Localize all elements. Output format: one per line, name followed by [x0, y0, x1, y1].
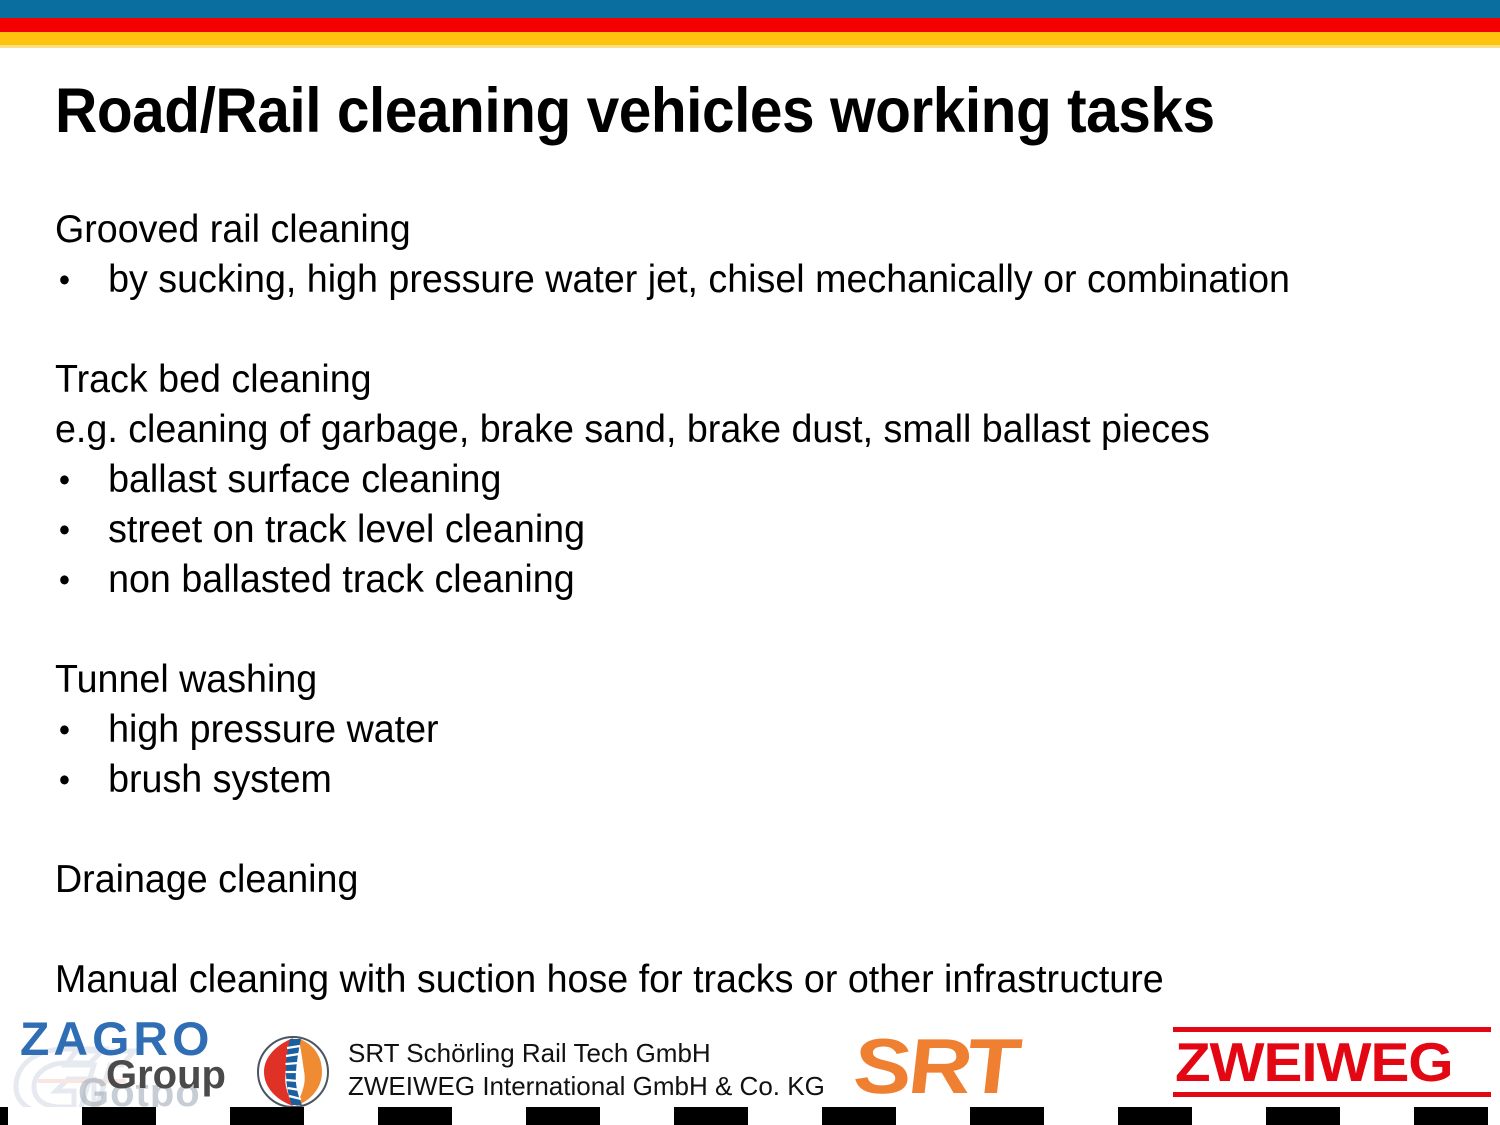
bullet-dot-icon: • [59, 705, 70, 755]
page-title: Road/Rail cleaning vehicles working task… [55, 78, 1348, 144]
zweiweg-rule-bottom [1173, 1092, 1491, 1097]
checker-cell [600, 1107, 674, 1125]
spacer-line [55, 305, 1416, 355]
bullet-text: street on track level cleaning [108, 505, 585, 555]
checker-cell [896, 1107, 970, 1125]
bullet-list-item: •non ballasted track cleaning [55, 555, 1416, 605]
top-bar-stripe-yellow [0, 32, 1500, 45]
body-heading-line: Tunnel washing [55, 655, 1416, 705]
slide-footer: Gotpo ZAGRO Group SRT Schörli [0, 1007, 1500, 1125]
bullet-text: brush system [108, 755, 332, 805]
body-heading-text: e.g. cleaning of garbage, brake sand, br… [55, 405, 1210, 455]
top-bar-stripe-blue [0, 0, 1500, 18]
bullet-text: by sucking, high pressure water jet, chi… [108, 255, 1290, 305]
checker-cell [156, 1107, 230, 1125]
bullet-dot-icon: • [59, 505, 70, 555]
bullet-list-item: •street on track level cleaning [55, 505, 1416, 555]
slide-canvas: Road/Rail cleaning vehicles working task… [0, 0, 1500, 1125]
spacer-line [55, 605, 1416, 655]
checkered-bottom-strip [0, 1107, 1500, 1125]
zweiweg-wordmark: ZWEIWEG [1175, 1033, 1453, 1091]
body-heading-line: Manual cleaning with suction hose for tr… [55, 955, 1416, 1005]
zagro-group-word: Group [106, 1053, 226, 1098]
checker-cell [1044, 1107, 1118, 1125]
bullet-list-item: •brush system [55, 755, 1416, 805]
top-bar-stripe-red [0, 18, 1500, 32]
srt-circular-emblem-icon [256, 1035, 330, 1109]
spacer-line [55, 805, 1416, 855]
body-heading-line: e.g. cleaning of garbage, brake sand, br… [55, 405, 1416, 455]
company-name-line-1: SRT Schörling Rail Tech GmbH [348, 1037, 825, 1070]
bullet-dot-icon: • [59, 455, 70, 505]
slide-body: Grooved rail cleaning•by sucking, high p… [55, 205, 1465, 1005]
checker-cell [304, 1107, 378, 1125]
srt-wordmark-logo: SRT [848, 1021, 1021, 1112]
checker-cell [8, 1107, 82, 1125]
bullet-list-item: •high pressure water [55, 705, 1416, 755]
bullet-text: ballast surface cleaning [108, 455, 501, 505]
spacer-line [55, 905, 1416, 955]
bullet-text: non ballasted track cleaning [108, 555, 575, 605]
body-heading-text: Track bed cleaning [55, 355, 372, 405]
bullet-dot-icon: • [59, 255, 70, 305]
bullet-text: high pressure water [108, 705, 439, 755]
bullet-list-item: •by sucking, high pressure water jet, ch… [55, 255, 1416, 305]
body-heading-text: Manual cleaning with suction hose for tr… [55, 955, 1164, 1005]
checker-cell [1488, 1107, 1500, 1125]
top-bar-stripe-yellow-soft [0, 45, 1500, 48]
body-heading-text: Drainage cleaning [55, 855, 358, 905]
company-names: SRT Schörling Rail Tech GmbH ZWEIWEG Int… [348, 1037, 825, 1104]
zagro-logo: Gotpo ZAGRO Group [8, 1009, 248, 1097]
top-color-bar [0, 0, 1500, 48]
body-heading-line: Grooved rail cleaning [55, 205, 1416, 255]
bullet-list-item: •ballast surface cleaning [55, 455, 1416, 505]
bullet-dot-icon: • [59, 755, 70, 805]
checker-cell [452, 1107, 526, 1125]
checker-cell [1192, 1107, 1266, 1125]
body-heading-text: Grooved rail cleaning [55, 205, 411, 255]
checker-cell [1340, 1107, 1414, 1125]
body-heading-line: Track bed cleaning [55, 355, 1416, 405]
checker-cell [748, 1107, 822, 1125]
body-heading-line: Drainage cleaning [55, 855, 1416, 905]
zweiweg-logo: ZWEIWEG [1173, 1027, 1493, 1097]
company-name-line-2: ZWEIWEG International GmbH & Co. KG [348, 1070, 825, 1103]
bullet-dot-icon: • [59, 555, 70, 605]
body-heading-text: Tunnel washing [55, 655, 317, 705]
